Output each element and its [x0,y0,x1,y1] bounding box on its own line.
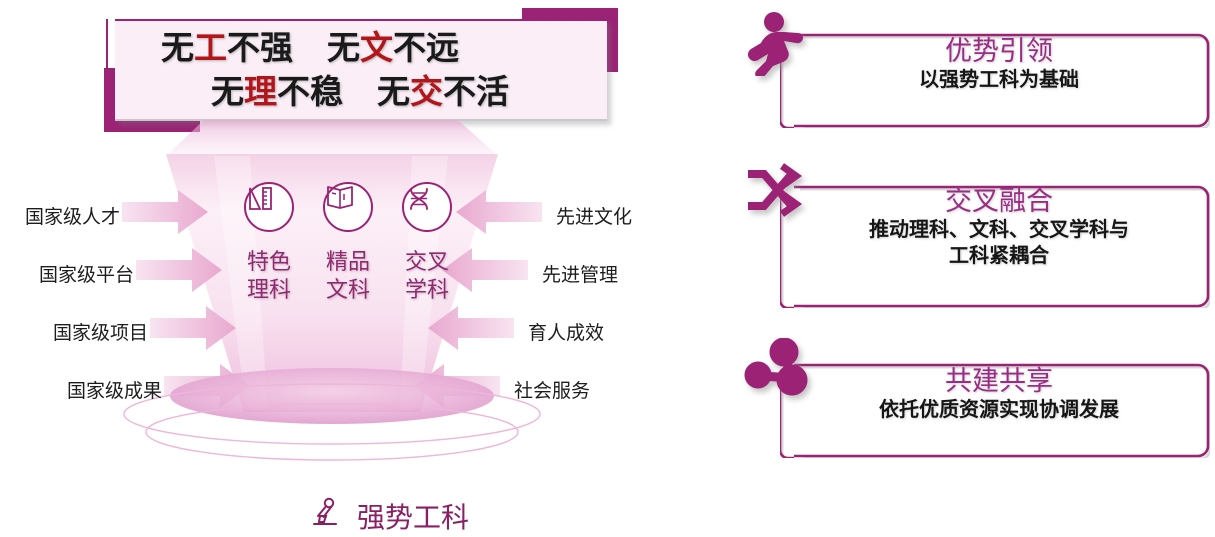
slogan-plain-char: 不稳 [277,73,343,110]
banner-bracket-top-right-horizontal [522,8,618,19]
feature-card-2[interactable]: 共建共享 依托优质资源实现协调发展 [742,338,1210,458]
funnel-left-label-1: 国家级平台 [14,260,134,287]
core-label-1: 精品 文科 [310,248,386,303]
card-title-0: 优势引领 [802,36,1196,67]
shuffle-cross-icon [744,162,814,223]
slogan-plain-char: 不远 [393,29,459,66]
slogan-plain-char: 无 [161,29,194,66]
card-text-2: 共建共享 依托优质资源实现协调发展 [802,366,1196,423]
slogan-line-2: 无理不稳无交不活 [115,70,607,114]
slogan-plain-char: 无 [327,29,360,66]
dna-helix-icon [402,182,452,232]
slogan-highlight-char: 理 [244,73,277,110]
funnel-right-label-3: 社会服务 [514,376,590,403]
feature-card-0[interactable]: 优势引领 以强势工科为基础 [742,8,1210,128]
funnel-diagram: 国家级人才 国家级平台 国家级项目 国家级成果 先进文化 先进管理 育人成效 社… [0,120,720,493]
card-subtitle-0-line0: 以强势工科为基础 [802,67,1196,93]
banner-panel: 无工不强无文不远 无理不稳无交不活 [115,19,607,121]
network-share-icon [742,338,814,405]
slogan-plain-char: 不强 [227,29,293,66]
banner-bracket-top-right-vertical [607,8,618,72]
ruler-triangle-icon [244,182,294,232]
funnel-right-label-1: 先进管理 [542,260,618,287]
card-subtitle-2-line0: 依托优质资源实现协调发展 [802,397,1196,423]
core-label-1-line1: 精品 [310,248,386,276]
slogan-plain-char: 无 [211,73,244,110]
funnel-left-label-3: 国家级成果 [42,376,162,403]
slogan-highlight-char: 文 [360,29,393,66]
open-book-icon [323,182,373,232]
core-label-2-line1: 交叉 [389,248,465,276]
funnel-base-label: 强势工科 [357,496,469,536]
card-subtitle-1-line0: 推动理科、文科、交叉学科与 [802,217,1196,243]
slogan-highlight-char: 工 [194,29,227,66]
core-label-0: 特色 理科 [231,248,307,303]
card-subtitle-1-line1: 工科紧耦合 [802,243,1196,269]
card-text-1: 交叉融合 推动理科、文科、交叉学科与 工科紧耦合 [802,186,1196,270]
funnel-left-label-2: 国家级项目 [28,318,148,345]
slogan-highlight-char: 交 [410,73,443,110]
core-label-0-line2: 理科 [231,276,307,304]
slogan-banner: 无工不强无文不远 无理不稳无交不活 [104,8,618,132]
slogan-plain-char: 无 [377,73,410,110]
slide-canvas: 无工不强无文不远 无理不稳无交不活 [0,0,1215,493]
funnel-base-badge: 强势工科 [308,495,518,537]
slogan-plain-char: 不活 [443,73,509,110]
card-title-1: 交叉融合 [802,186,1196,217]
banner-lines: 无工不强无文不远 无理不稳无交不活 [115,21,607,119]
funnel-right-label-2: 育人成效 [528,318,604,345]
funnel-graphics [0,120,720,493]
core-label-2-line2: 学科 [389,276,465,304]
core-label-1-line2: 文科 [310,276,386,304]
core-label-2: 交叉 学科 [389,248,465,303]
core-label-0-line1: 特色 [231,248,307,276]
feature-card-1[interactable]: 交叉融合 推动理科、文科、交叉学科与 工科紧耦合 [742,160,1210,308]
slogan-line-1: 无工不强无文不远 [115,26,607,70]
microscope-icon [308,495,342,529]
running-person-icon [744,10,806,81]
card-title-2: 共建共享 [802,366,1196,397]
funnel-right-label-0: 先进文化 [556,202,632,229]
funnel-left-label-0: 国家级人才 [0,202,120,229]
card-text-0: 优势引领 以强势工科为基础 [802,36,1196,93]
